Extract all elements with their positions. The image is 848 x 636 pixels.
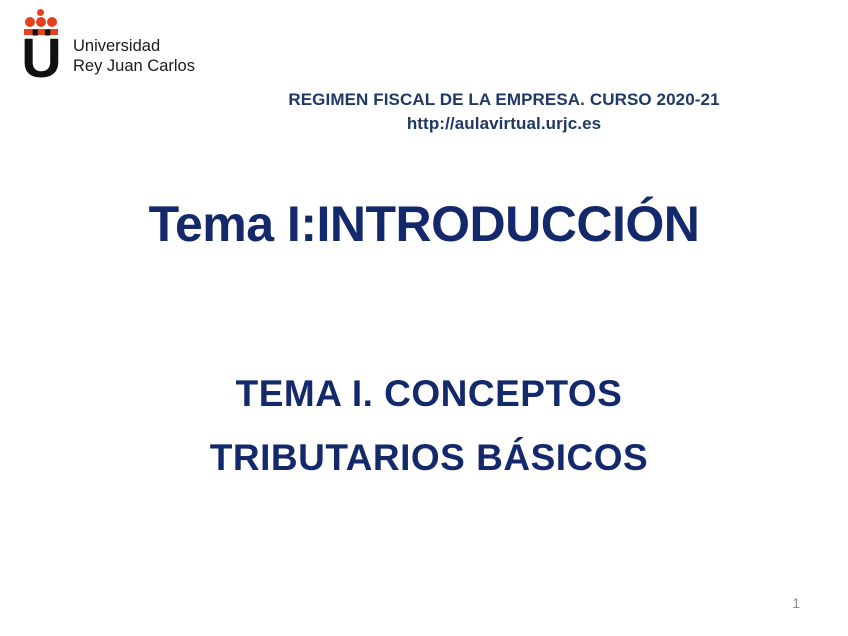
slide-title: Tema I:INTRODUCCIÓN bbox=[0, 194, 848, 254]
university-logo-line2: Rey Juan Carlos bbox=[73, 56, 195, 76]
slide-canvas: Ü Universidad Rey Juan Carlos REGIMEN FI… bbox=[0, 0, 848, 636]
university-logo-line1: Universidad bbox=[73, 36, 195, 56]
course-header-line2[interactable]: http://aulavirtual.urjc.es bbox=[214, 112, 794, 136]
page-number: 1 bbox=[792, 595, 800, 611]
course-header: REGIMEN FISCAL DE LA EMPRESA. CURSO 2020… bbox=[214, 88, 794, 136]
university-logo: Ü Universidad Rey Juan Carlos bbox=[18, 8, 195, 82]
slide-subtitle-line2: TRIBUTARIOS BÁSICOS bbox=[0, 426, 848, 490]
course-header-line1: REGIMEN FISCAL DE LA EMPRESA. CURSO 2020… bbox=[214, 88, 794, 112]
crown-dot-top bbox=[37, 9, 44, 16]
slide-subtitle-line1: TEMA I. CONCEPTOS bbox=[0, 362, 848, 426]
logo-letter-u: Ü bbox=[18, 33, 64, 83]
slide-subtitle: TEMA I. CONCEPTOS TRIBUTARIOS BÁSICOS bbox=[0, 362, 848, 490]
urjc-crown-logo-icon: Ü bbox=[18, 8, 64, 82]
university-logo-text: Universidad Rey Juan Carlos bbox=[73, 36, 195, 82]
